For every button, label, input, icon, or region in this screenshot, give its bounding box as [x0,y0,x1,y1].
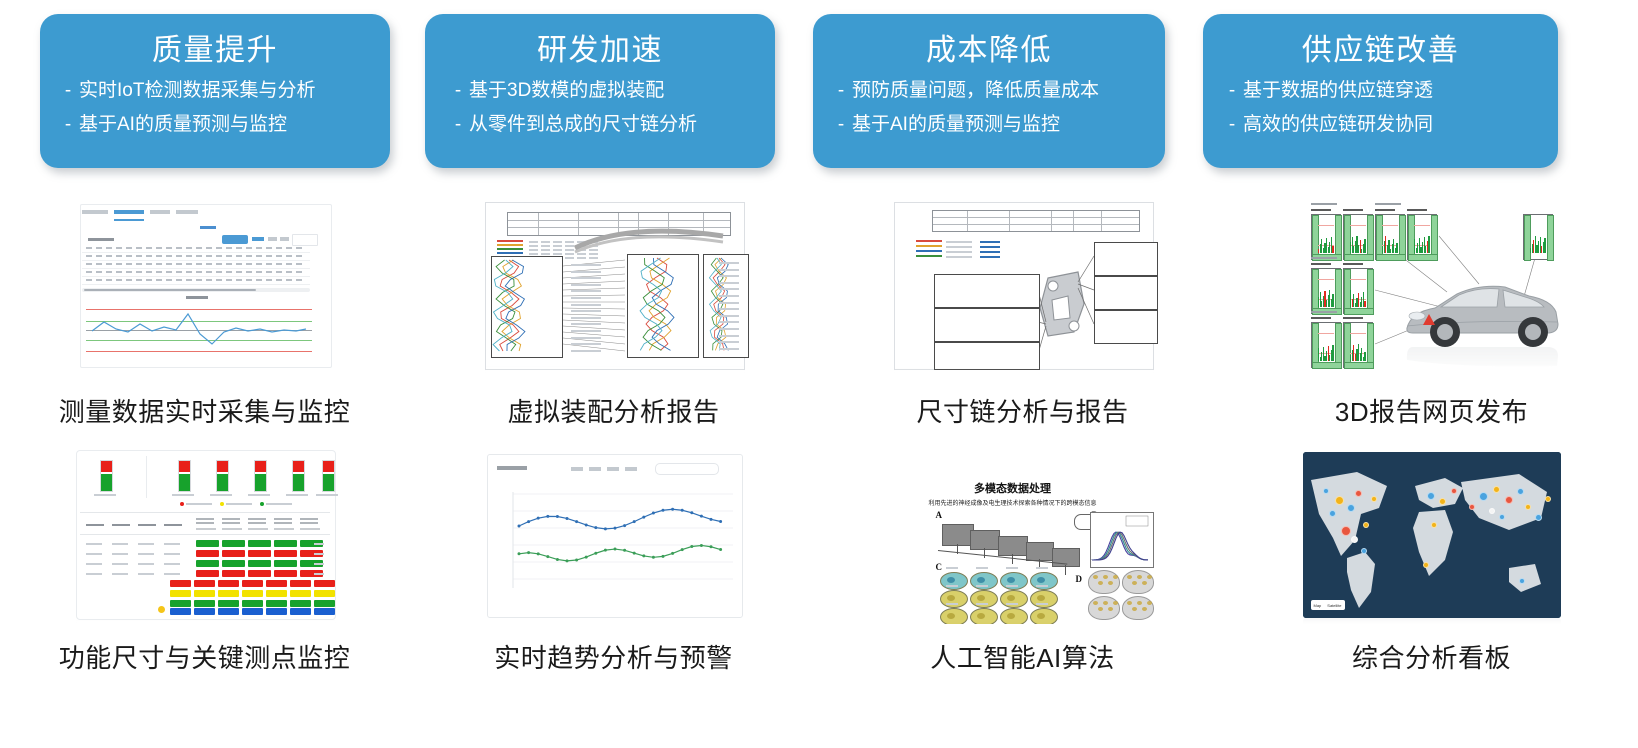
status-cell [266,608,287,615]
table-cell [166,255,172,257]
metric-group-label [1375,203,1401,205]
table-cell-text [314,543,324,545]
activation-cluster [1142,607,1147,611]
indicator-label [286,494,308,496]
map-cluster-marker [1505,496,1513,504]
status-cell [196,570,219,577]
activation-cluster [1103,575,1108,579]
indicator-green [323,474,334,491]
indicator-green [179,474,190,491]
table-cell [276,263,282,265]
status-indicator [254,460,267,492]
table-cell [246,263,252,265]
column-header [300,522,318,524]
gallery-item-status-matrix[interactable]: 功能尺寸与关键测点监控 [0,446,409,696]
table-cell [256,271,262,273]
bullet-text: 预防质量问题，降低质量成本 [852,74,1099,108]
table-cell [106,255,112,257]
topo-region [977,613,985,619]
thumbnail-dimension-chain-report[interactable] [888,196,1158,374]
indicator-red [293,461,304,472]
brain-surface [1122,570,1154,594]
limit-line [1350,279,1366,280]
topographic-map [940,572,968,590]
gallery-item-dimension-chain[interactable]: 尺寸链分析与报告 [818,196,1227,446]
metric-bar [1364,352,1365,361]
table-cell [186,279,192,281]
table-cell [236,255,242,257]
table-cell [266,279,272,281]
status-cell [274,560,297,567]
status-cell [218,608,239,615]
map-cluster-marker [1545,496,1551,502]
column-header [274,522,292,524]
thumbnail-trend-analysis-chart[interactable] [479,446,749,624]
metric-bar [1332,246,1333,253]
panel-label-a: A [936,510,943,520]
status-cell [170,600,191,607]
status-cell [194,590,215,597]
chart-row-label [719,269,739,271]
chart-row-label [571,310,601,312]
map-cluster-marker [1489,508,1495,514]
table-cell [196,279,202,281]
gallery-caption: 测量数据实时采集与监控 [59,392,351,429]
indicator-label [210,494,232,496]
chart-row-label [719,335,739,337]
gallery-item-measurement[interactable]: 测量数据实时采集与监控 [0,196,409,446]
table-cell [176,263,182,265]
gallery-caption: 尺寸链分析与报告 [916,392,1128,429]
topographic-map [940,590,968,608]
timeline-tick [1065,565,1066,575]
indicator-red [179,461,190,472]
bullet-text: 从零件到总成的尺寸链分析 [469,108,697,142]
topo-label [976,603,988,605]
metric-label [1343,209,1363,211]
bullet-text: 基于AI的质量预测与监控 [852,108,1060,142]
gallery-item-virtual-assembly[interactable]: 虚拟装配分析报告 [409,196,818,446]
map-cluster-marker [1329,510,1336,517]
map-cluster-marker [1351,536,1358,543]
topographic-map [1000,572,1028,590]
status-cell [274,540,297,547]
benefit-card-rnd[interactable]: 研发加速 - 基于3D数模的虚拟装配 - 从零件到总成的尺寸链分析 [425,14,775,168]
chart-row-label [719,348,739,350]
status-cell [218,580,239,587]
bullet-dash: - [1221,74,1243,108]
indicator-red [217,461,228,472]
status-cell [222,550,245,557]
bullet-text: 基于3D数模的虚拟装配 [469,74,664,108]
card-bullet: - 基于数据的供应链穿透 [1221,74,1548,108]
metric-group-label [1311,203,1337,205]
table-cell [96,271,102,273]
map-cluster-marker [1355,490,1362,497]
table-cell [206,279,212,281]
chart-row-label [719,282,739,284]
status-cell [314,580,335,587]
table-cell [146,255,152,257]
table-cell [186,263,192,265]
table-cell [106,263,112,265]
trend-lines [487,484,741,604]
status-cell [266,600,287,607]
chart-row-label [719,275,739,277]
table-cell [116,263,122,265]
bullet-text: 基于数据的供应链穿透 [1243,74,1433,108]
table-cell [236,279,242,281]
metric-label [1311,263,1331,265]
table-cell [136,279,142,281]
metric-bar [1544,238,1545,253]
status-indicator [322,460,335,492]
status-indicator [178,460,191,492]
metric-bar [1428,236,1429,253]
limit-line [1414,225,1430,226]
status-cell [170,608,191,615]
table-cell [96,279,102,281]
gallery-caption: 3D报告网页发布 [1335,392,1528,429]
table-cell [246,247,252,249]
map-cluster-marker [1335,496,1344,505]
table-cell [166,263,172,265]
column-header [274,518,292,520]
status-indicator [100,460,113,492]
map-button-label[interactable]: Map [1311,603,1325,608]
table-cell [296,263,302,265]
table-cell [176,247,182,249]
world-map-shapes [1303,452,1561,618]
table-cell-text [164,563,180,565]
legend-text [266,503,292,505]
legend-dot [220,502,224,506]
map-cluster-marker [1323,488,1329,494]
map-cluster-marker [1493,486,1500,493]
gallery-item-3d-web-report[interactable]: 3D报告网页发布 [1227,196,1636,446]
thumbnail-ai-algorithm-poster[interactable]: 多模态数据处理 利用先进的神经成像及电生理技术探索各种情况下的跨模态信息 A B… [888,446,1158,624]
table-cell-text [164,543,180,545]
status-cell [170,590,191,597]
chart-row-label [719,288,739,290]
map-cluster-marker [1427,492,1435,500]
metric-group-label [1311,257,1337,259]
table-cell [256,247,262,249]
benefit-card-supplychain[interactable]: 供应链改善 - 基于数据的供应链穿透 - 高效的供应链研发协同 [1203,14,1558,168]
topographic-map [1030,590,1058,608]
activation-cluster [1108,581,1113,585]
axis-strip [1344,254,1374,261]
timeline-tick [984,548,985,558]
chart-row-label [571,284,601,286]
thumbnail-status-matrix-dashboard[interactable] [70,446,340,624]
table-cell [236,271,242,273]
table-cell [106,271,112,273]
map-cluster-marker [1363,522,1369,528]
table-cell [226,247,232,249]
activation-cluster [1132,581,1137,585]
column-header [112,524,130,526]
chart-row-label [571,330,601,332]
table-cell [286,279,292,281]
status-cell [222,560,245,567]
table-cell [246,279,252,281]
map-cluster-marker [1479,492,1488,501]
column-header [300,518,318,520]
status-cell [242,608,263,615]
map-cluster-marker [1451,488,1457,494]
gallery-item-ai-algorithm[interactable]: 多模态数据处理 利用先进的神经成像及电生理技术探索各种情况下的跨模态信息 A B… [818,446,1227,696]
brain-surface [1122,596,1154,620]
topo-region [1037,577,1045,583]
map-cluster-marker [1517,488,1524,495]
table-cell-text [112,563,128,565]
table-cell [86,247,92,249]
table-cell [216,271,222,273]
chart-row-label [571,297,601,299]
table-cell [86,263,92,265]
map-type-control[interactable]: Map Satellite [1311,600,1345,610]
status-cell [314,608,335,615]
activation-cluster [1098,581,1103,585]
table-cell [206,271,212,273]
topo-label [946,567,958,569]
table-divider [80,512,330,513]
table-cell [276,279,282,281]
thumbnail-analysis-map-board[interactable]: Map Satellite [1297,446,1567,624]
gallery-caption: 综合分析看板 [1352,638,1511,675]
table-cell [86,271,92,273]
bullet-dash: - [830,108,852,142]
topographic-map [1000,590,1028,608]
table-cell [96,247,102,249]
table-cell-text [138,563,154,565]
chart-row-label [571,264,601,266]
status-cell [248,570,271,577]
stimulus-frame [970,530,1000,550]
benefit-card-quality[interactable]: 质量提升 - 实时IoT检测数据采集与分析 - 基于AI的质量预测与监控 [40,14,390,168]
topo-label [1006,603,1018,605]
chart-row-label [719,308,739,310]
status-cell [170,580,191,587]
card-bullet-list: - 基于3D数模的虚拟装配 - 从零件到总成的尺寸链分析 [431,74,769,142]
status-cell [194,600,215,607]
status-cell [196,560,219,567]
column-header [300,528,320,530]
status-cell [196,540,219,547]
table-cell [176,271,182,273]
thumbnail-virtual-assembly-report[interactable] [479,196,749,374]
status-cell [314,590,335,597]
map-cluster-marker [1431,522,1437,528]
table-cell [146,279,152,281]
column-header [248,518,266,520]
table-cell-text [112,543,128,545]
status-cell [218,590,239,597]
map-cluster-marker [1469,504,1475,510]
table-cell [136,271,142,273]
indicator-green [293,474,304,491]
gallery-item-trend-analysis[interactable]: 实时趋势分析与预警 [409,446,818,696]
assembly-connector-lines [479,196,749,374]
table-cell [286,247,292,249]
chart-row-label [571,350,601,352]
activation-cluster [1142,581,1147,585]
map-cluster-marker [1519,578,1525,584]
table-cell-text [86,553,102,555]
metric-bar [1396,243,1397,253]
table-cell [166,271,172,273]
metric-label [1375,209,1395,211]
brain-surface [1088,596,1120,620]
table-cell [256,255,262,257]
chart-row-label [719,302,739,304]
status-cell [242,590,263,597]
axis-strip [1408,254,1438,261]
table-cell [156,271,162,273]
card-bullet: - 基于3D数模的虚拟装配 [447,74,769,108]
table-cell [186,271,192,273]
bullet-text: 高效的供应链研发协同 [1243,108,1433,142]
status-indicator [216,460,229,492]
limit-line [1318,333,1334,334]
table-cell-text [138,573,154,575]
column-header [86,524,104,526]
bullet-dash: - [1221,108,1243,142]
status-cell [266,590,287,597]
indicator-red [101,461,112,472]
activation-cluster [1127,601,1132,605]
highlight-dot [158,606,165,613]
topo-region [1037,613,1045,619]
table-cell [286,263,292,265]
metric-chart-box [1407,214,1437,260]
indicator-label [94,494,116,496]
table-cell [226,271,232,273]
activation-cluster [1093,575,1098,579]
bullet-text: 基于AI的质量预测与监控 [79,108,287,142]
map-cluster-marker [1439,498,1446,505]
stimulus-frame [998,536,1028,556]
metric-group-label [1311,311,1337,313]
card-bullet: - 基于AI的质量预测与监控 [57,108,379,142]
topo-label [1036,585,1048,587]
panel-label-c: C [936,562,943,572]
table-cell [236,263,242,265]
activation-cluster [1098,607,1103,611]
chart-row-label [719,341,739,343]
benefit-card-cost[interactable]: 成本降低 - 预防质量问题，降低质量成本 - 基于AI的质量预测与监控 [813,14,1165,168]
table-cell [206,247,212,249]
metric-chart-box [1311,268,1341,314]
activation-cluster [1103,601,1108,605]
poster-title: 多模态数据处理 [888,480,1138,496]
bullet-dash: - [830,74,852,108]
metric-chart-box [1311,322,1341,368]
bullet-dash: - [57,108,79,142]
status-cell [274,570,297,577]
metric-label [1311,317,1331,319]
card-bullet: - 高效的供应链研发协同 [1221,108,1548,142]
chart-row-label [571,317,601,319]
column-header [222,518,240,520]
topo-region [977,595,985,601]
topographic-map [1030,608,1058,624]
topo-region [947,613,955,619]
gallery-caption: 功能尺寸与关键测点监控 [59,638,351,675]
metric-bar [1364,239,1365,253]
column-header [222,528,242,530]
gallery-caption: 虚拟装配分析报告 [507,392,719,429]
activation-cluster [1127,575,1132,579]
topographic-map [970,590,998,608]
topo-region [1037,595,1045,601]
table-cell [136,247,142,249]
thumbnail-3d-web-report[interactable] [1297,196,1567,374]
status-cell [242,600,263,607]
table-cell-text [86,573,102,575]
table-cell [226,255,232,257]
table-cell [126,279,132,281]
table-cell [286,255,292,257]
table-cell [86,279,92,281]
table-cell-text [314,573,324,575]
status-cell [290,590,311,597]
status-cell [194,608,215,615]
column-header [196,528,216,530]
table-cell [136,263,142,265]
map-cluster-marker [1347,504,1355,512]
chart-row-label [719,295,739,297]
table-cell [96,263,102,265]
gallery-row-2: 功能尺寸与关键测点监控 实时趋势分析与预警 [0,446,1638,696]
table-cell [246,255,252,257]
poster-subtitle: 利用先进的神经成像及电生理技术探索各种情况下的跨模态信息 [888,498,1138,507]
table-cell [116,247,122,249]
status-cell [194,580,215,587]
bullet-dash: - [57,74,79,108]
status-cell [266,580,287,587]
topo-region [1007,577,1015,583]
table-cell-text [164,553,180,555]
bullet-dash: - [447,74,469,108]
table-cell [186,255,192,257]
map-cluster-marker [1499,514,1505,520]
table-cell-text [112,553,128,555]
table-cell [216,279,222,281]
card-bullet-list: - 预防质量问题，降低质量成本 - 基于AI的质量预测与监控 [824,74,1154,142]
topo-label [976,567,988,569]
axis-strip [1376,254,1406,261]
status-cell [248,540,271,547]
topo-label [946,585,958,587]
card-title: 成本降低 [926,30,1052,72]
table-cell [276,271,282,273]
metric-bar [1364,301,1365,307]
map-cluster-marker [1525,504,1531,510]
satellite-button-label[interactable]: Satellite [1324,603,1344,608]
metric-chart-box [1343,268,1373,314]
activation-cluster [1147,575,1152,579]
table-cell [246,271,252,273]
gallery-item-analysis-map[interactable]: Map Satellite 综合分析看板 [1227,446,1636,696]
topo-region [947,577,955,583]
limit-line [1350,225,1366,226]
thumbnail-measurement-dashboard[interactable] [70,196,340,374]
card-title: 研发加速 [537,30,663,72]
bullet-dash: - [447,108,469,142]
status-cell [290,600,311,607]
